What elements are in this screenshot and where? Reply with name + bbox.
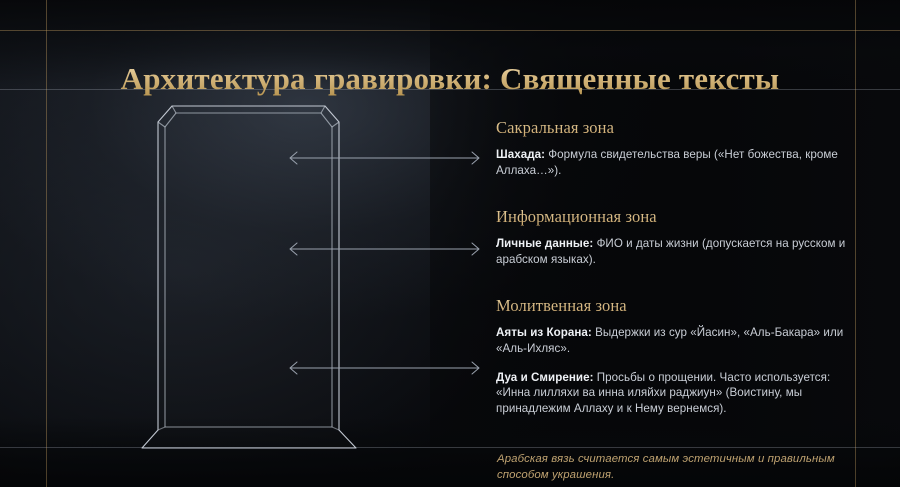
footnote: Арабская вязь считается самым эстетичным… <box>497 452 857 483</box>
zone-block-sacral: Сакральная зона Шахада: Формула свидетел… <box>496 118 851 178</box>
paragraph-lead: Дуа и Смирение: <box>496 371 594 384</box>
zone-paragraph: Аяты из Корана: Выдержки из сур «Йасин»,… <box>496 325 851 356</box>
guide-line-horizontal-top <box>0 30 900 31</box>
zone-title-sacral: Сакральная зона <box>496 118 851 138</box>
spacer-one <box>496 178 851 207</box>
zone-block-prayer: Молитвенная зона Аяты из Корана: Выдержк… <box>496 296 851 416</box>
paragraph-lead: Шахада: <box>496 148 545 161</box>
zone-title-prayer: Молитвенная зона <box>496 296 851 316</box>
stele-diagram <box>128 92 388 462</box>
slide-canvas: Архитектура гравировки: Священные тексты <box>0 0 900 487</box>
zone-paragraph: Шахада: Формула свидетельства веры («Нет… <box>496 147 851 178</box>
zone-block-information: Информационная зона Личные данные: ФИО и… <box>496 207 851 267</box>
paragraph-lead: Личные данные: <box>496 237 593 250</box>
zone-paragraph: Дуа и Смирение: Просьбы о прощении. Част… <box>496 370 851 417</box>
zone-title-information: Информационная зона <box>496 207 851 227</box>
zones-column: Сакральная зона Шахада: Формула свидетел… <box>496 118 851 416</box>
spacer-two <box>496 267 851 296</box>
zone-paragraph: Личные данные: ФИО и даты жизни (допуска… <box>496 236 851 267</box>
stele-outline <box>142 106 356 448</box>
paragraph-lead: Аяты из Корана: <box>496 326 592 339</box>
paragraph-text: Формула свидетельства веры («Нет божеств… <box>496 148 838 177</box>
